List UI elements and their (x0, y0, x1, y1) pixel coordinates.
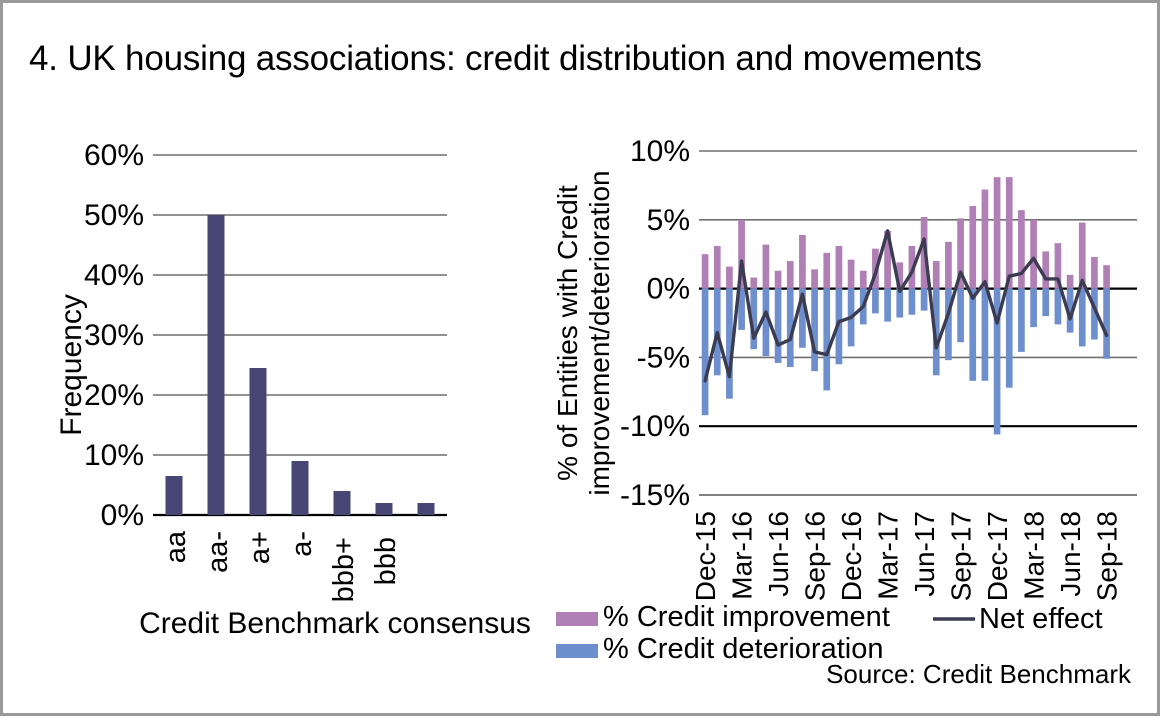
improvement-bar (799, 235, 806, 289)
improvement-bar (945, 242, 952, 289)
deterioration-bar (982, 289, 989, 381)
deterioration-bar (1030, 289, 1037, 328)
y-axis-title-line: % of Entities with Credit (552, 185, 583, 481)
y-tick-label: 10% (630, 135, 690, 168)
credit-movements-chart: -15%-10%-5%0%5%10%Dec-15Mar-16Jun-16Sep-… (552, 135, 1137, 601)
improvement-bar (1091, 257, 1098, 289)
improvement-bar (1042, 251, 1049, 288)
deterioration-bar (969, 289, 976, 381)
improvement-bar (994, 177, 1001, 288)
deterioration-bar (957, 289, 964, 343)
source-label: Source: Credit Benchmark (826, 659, 1132, 689)
chart-legend: % Credit improvementNet effect% Credit d… (556, 601, 1103, 665)
improvement-bar (763, 245, 770, 289)
y-tick-label: 20% (84, 379, 144, 412)
credit-distribution-chart: 0%10%20%30%40%50%60%aaaa-a+a-bbb+bbbFreq… (55, 139, 531, 640)
deterioration-bar (775, 289, 782, 363)
x-tick-label: a+ (244, 531, 276, 564)
improvement-bar (982, 190, 989, 289)
x-tick-label: Jun-17 (909, 511, 940, 597)
improvement-bar (1103, 265, 1110, 288)
improvement-bar (1018, 210, 1025, 288)
bar (166, 476, 183, 515)
y-tick-label: 60% (84, 139, 144, 172)
x-tick-label: bbb+ (328, 537, 360, 602)
y-tick-label: -10% (620, 410, 690, 443)
y-tick-label: -5% (637, 341, 690, 374)
x-tick-label: aa- (202, 531, 234, 573)
legend-label-improvement: % Credit improvement (603, 601, 890, 633)
x-tick-label: bbb (370, 537, 402, 585)
deterioration-bar (1079, 289, 1086, 347)
deterioration-bar (823, 289, 830, 391)
legend-label-net-effect: Net effect (979, 603, 1103, 635)
x-tick-label: Dec-17 (982, 511, 1013, 601)
y-tick-label: 30% (84, 319, 144, 352)
x-tick-label: Dec-16 (836, 511, 867, 601)
y-tick-label: 50% (84, 199, 144, 232)
charts-canvas: 0%10%20%30%40%50%60%aaaa-a+a-bbb+bbbFreq… (3, 3, 1160, 719)
y-tick-label: -15% (620, 479, 690, 512)
deterioration-bar (1006, 289, 1013, 388)
x-tick-label: Jun-18 (1055, 511, 1086, 597)
y-axis-title: Frequency (55, 294, 88, 436)
x-tick-label: Mar-18 (1019, 511, 1050, 600)
deterioration-bar (811, 289, 818, 372)
deterioration-bar (884, 289, 891, 322)
improvement-bar (848, 260, 855, 289)
legend-swatch-improvement (556, 612, 598, 626)
improvement-bar (969, 206, 976, 289)
improvement-bar (836, 246, 843, 289)
x-tick-label: Sep-17 (946, 511, 977, 601)
deterioration-bar (702, 289, 709, 416)
y-tick-label: 0% (647, 273, 690, 306)
improvement-bar (1030, 220, 1037, 289)
bar (292, 461, 309, 515)
y-tick-label: 10% (84, 439, 144, 472)
improvement-bar (860, 271, 867, 289)
bar (334, 491, 351, 515)
deterioration-bar (921, 289, 928, 311)
x-tick-label: aa (160, 530, 192, 563)
y-tick-label: 40% (84, 259, 144, 292)
x-tick-label: Dec-15 (690, 511, 721, 601)
improvement-bar (714, 246, 721, 289)
legend-swatch-deterioration (556, 644, 598, 658)
bar (250, 368, 267, 515)
deterioration-bar (1103, 289, 1110, 359)
deterioration-bar (872, 289, 879, 314)
improvement-bar (702, 254, 709, 288)
deterioration-bar (1042, 289, 1049, 317)
improvement-bar (750, 278, 757, 289)
improvement-bar (823, 253, 830, 289)
x-tick-label: Jun-16 (763, 511, 794, 597)
improvement-bar (1067, 275, 1074, 289)
x-tick-label: a- (286, 531, 318, 557)
y-tick-label: 0% (101, 499, 144, 532)
x-axis-title: Credit Benchmark consensus (139, 607, 531, 640)
y-tick-label: 5% (647, 204, 690, 237)
bar (376, 503, 393, 515)
bar (418, 503, 435, 515)
x-tick-label: Sep-16 (800, 511, 831, 601)
improvement-bar (726, 267, 733, 289)
improvement-bar (1006, 177, 1013, 288)
deterioration-bar (1055, 289, 1062, 325)
x-tick-label: Mar-17 (873, 511, 904, 600)
y-axis-title-line: improvement/deterioration (584, 170, 615, 495)
improvement-bar (811, 269, 818, 288)
x-tick-label: Mar-16 (727, 511, 758, 600)
figure-container: 4. UK housing associations: credit distr… (0, 0, 1160, 716)
improvement-bar (775, 271, 782, 289)
improvement-bar (787, 261, 794, 289)
deterioration-bar (1018, 289, 1025, 352)
x-tick-label: Sep-18 (1092, 511, 1123, 601)
bar (208, 215, 225, 515)
improvement-bar (933, 261, 940, 289)
deterioration-bar (909, 289, 916, 315)
